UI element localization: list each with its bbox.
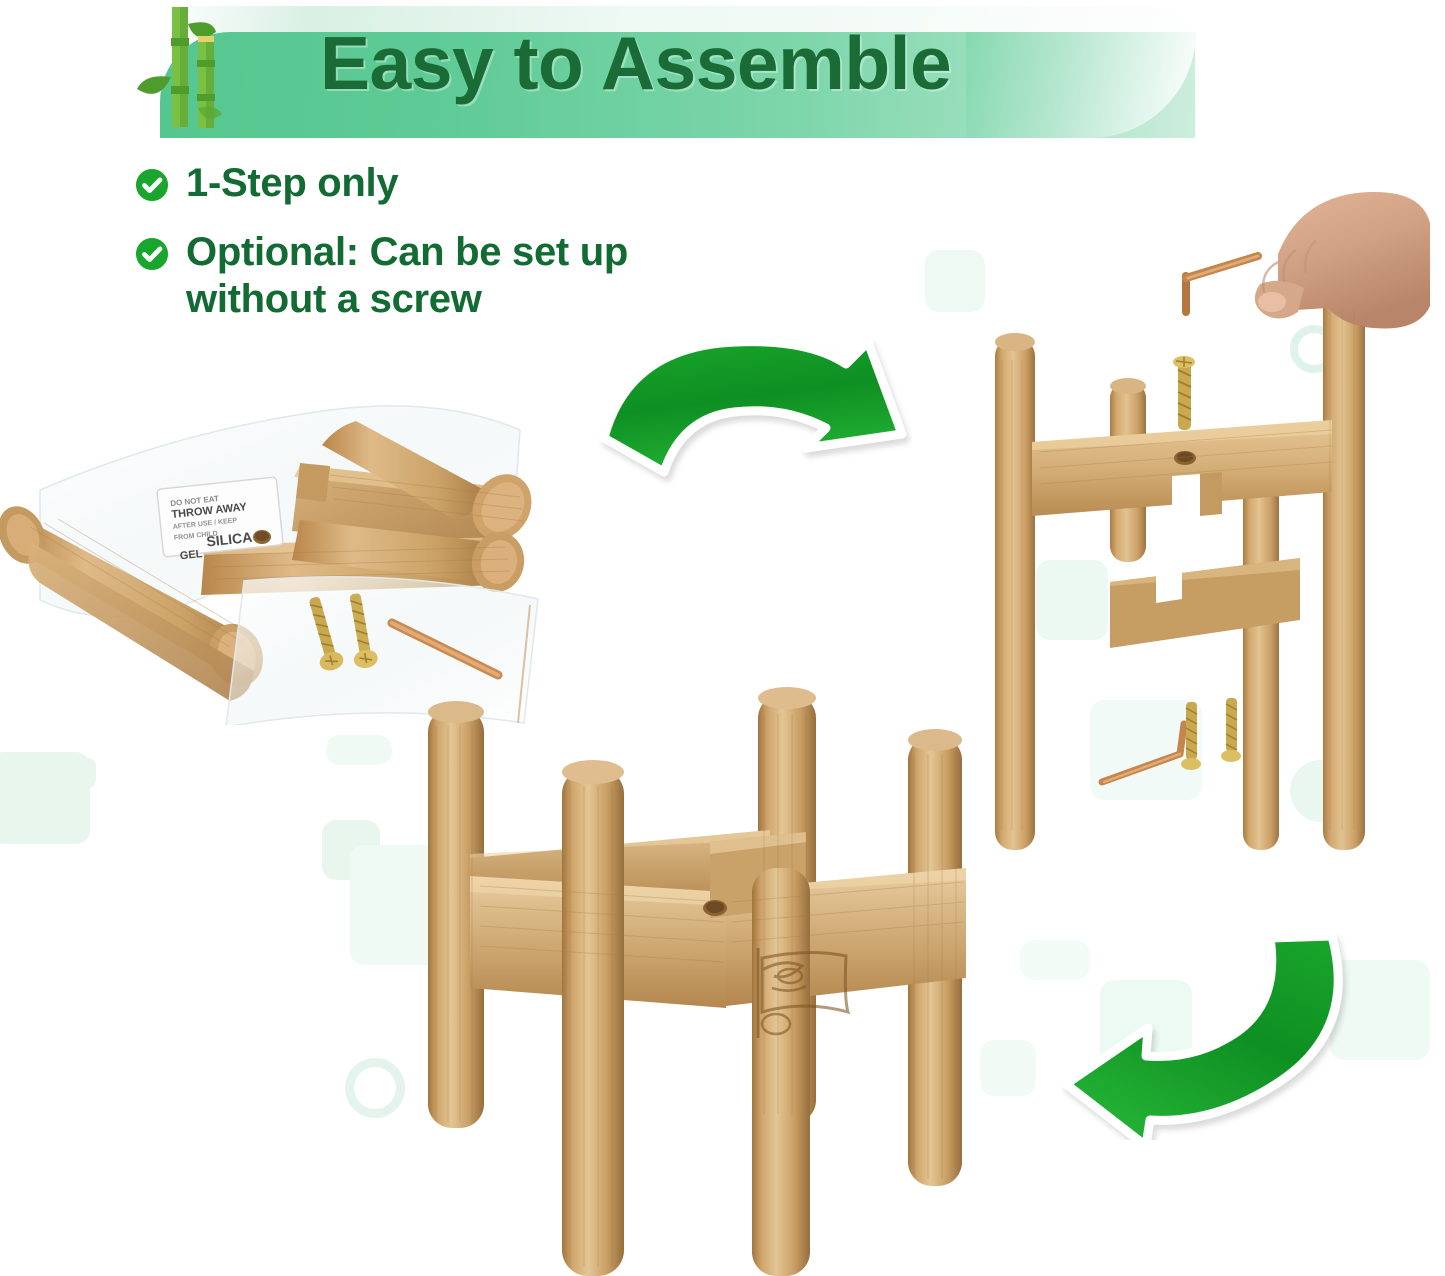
list-item: Optional: Can be set up without a screw (135, 229, 895, 323)
loose-screw (1221, 698, 1241, 762)
check-circle-icon (135, 237, 169, 271)
feature-list: 1-Step only Optional: Can be set up with… (135, 160, 895, 346)
wood-screw-icon (1173, 356, 1195, 430)
svg-text:GEL: GEL (179, 548, 203, 562)
bg-decor-square (326, 735, 392, 765)
packaged-product-photo: DO NOT EAT THROW AWAY AFTER USE / KEEP F… (0, 355, 620, 725)
bamboo-stalks-icon (112, 2, 232, 142)
list-item: 1-Step only (135, 160, 895, 207)
header-banner: Easy to Assemble (160, 6, 1210, 138)
hand-holding-leg (1255, 192, 1430, 329)
allen-wrench-icon (1102, 724, 1184, 782)
flow-arrow-top[interactable] (592, 330, 912, 510)
allen-wrench-icon (1186, 256, 1258, 312)
page-title: Easy to Assemble (320, 20, 951, 106)
bg-decor-ring (345, 1058, 405, 1118)
infographic-canvas: Easy to Assemble 1-Step only (0, 0, 1445, 1276)
check-circle-icon (135, 168, 169, 202)
loose-hardware-group (1080, 690, 1300, 820)
feature-label: Optional: Can be set up without a screw (186, 229, 628, 323)
bg-decor-square (58, 758, 96, 788)
flow-arrow-bottom[interactable] (1032, 930, 1352, 1140)
feature-label: 1-Step only (186, 160, 398, 207)
assembled-plant-stand-photo (410, 680, 1030, 1276)
